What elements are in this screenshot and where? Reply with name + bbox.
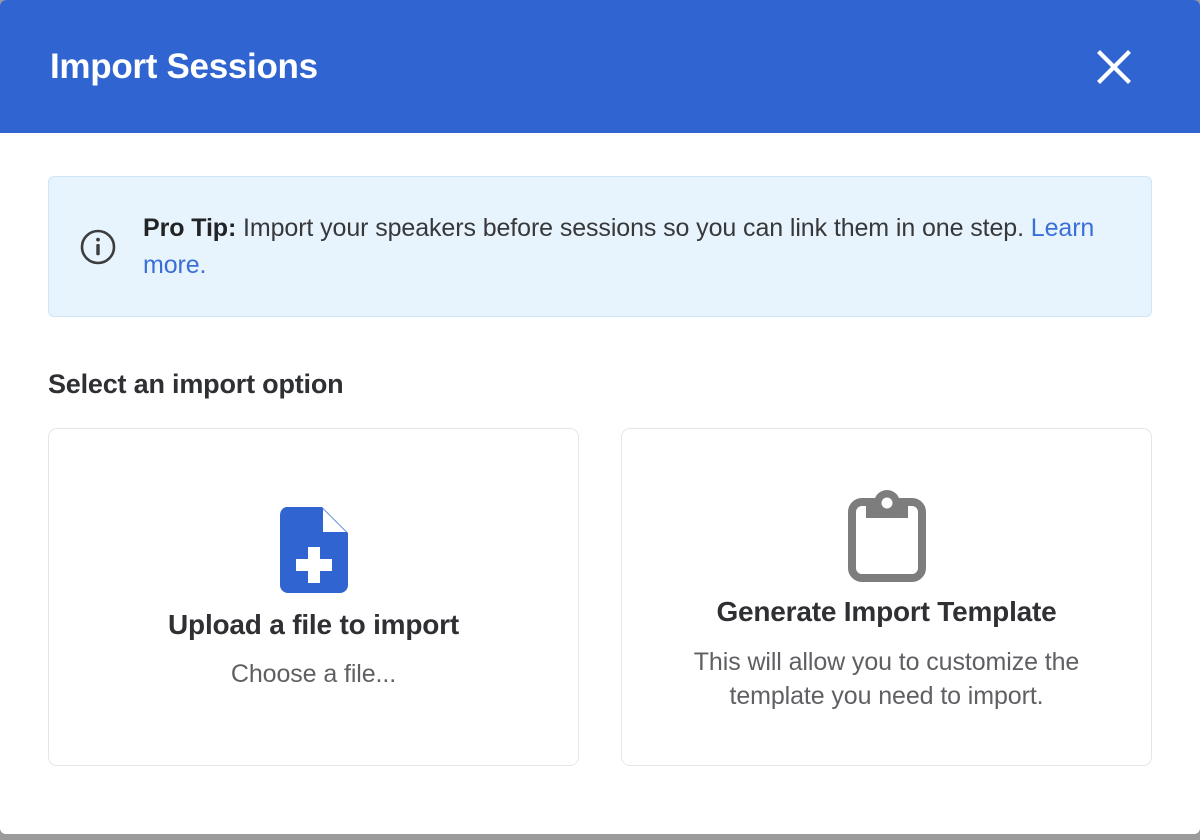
pro-tip-label: Pro Tip: bbox=[143, 214, 236, 242]
page-title: Import Sessions bbox=[50, 49, 318, 84]
import-sessions-modal: Import Sessions Pro Tip: Import you bbox=[0, 0, 1200, 834]
pro-tip-body: Import your speakers before sessions so … bbox=[236, 214, 1031, 242]
pro-tip-text: Pro Tip: Import your speakers before ses… bbox=[143, 210, 1125, 284]
option-card-subtitle: This will allow you to customize the tem… bbox=[672, 645, 1102, 713]
option-card-upload-file[interactable]: Upload a file to import Choose a file... bbox=[48, 428, 579, 766]
option-card-title: Generate Import Template bbox=[716, 595, 1056, 629]
file-plus-icon bbox=[280, 503, 348, 598]
section-heading: Select an import option bbox=[48, 369, 1152, 400]
close-button[interactable] bbox=[1086, 39, 1142, 95]
clipboard-icon bbox=[848, 481, 926, 591]
modal-body: Pro Tip: Import your speakers before ses… bbox=[0, 176, 1200, 766]
option-card-subtitle: Choose a file... bbox=[231, 657, 396, 691]
import-option-grid: Upload a file to import Choose a file...… bbox=[48, 428, 1152, 766]
info-circle-icon bbox=[79, 228, 117, 266]
close-icon bbox=[1094, 47, 1134, 87]
pro-tip-banner: Pro Tip: Import your speakers before ses… bbox=[48, 176, 1152, 317]
modal-header: Import Sessions bbox=[0, 0, 1200, 133]
option-card-title: Upload a file to import bbox=[168, 608, 459, 642]
option-card-generate-template[interactable]: Generate Import Template This will allow… bbox=[621, 428, 1152, 766]
